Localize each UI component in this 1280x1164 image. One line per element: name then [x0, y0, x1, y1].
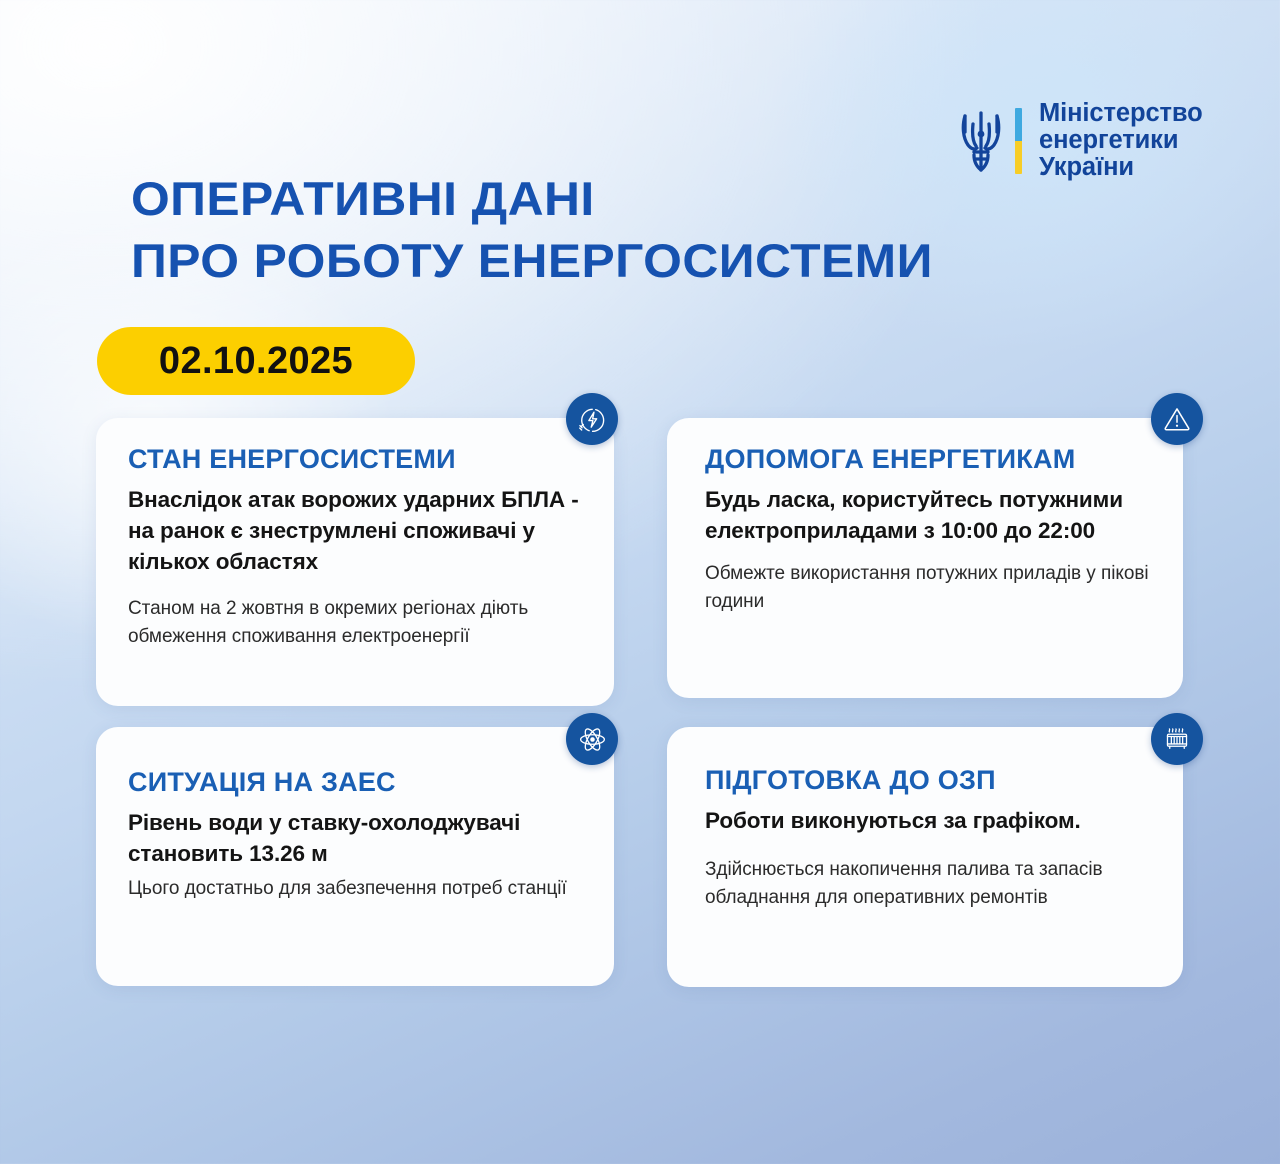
- date-badge: 02.10.2025: [97, 327, 415, 395]
- page-title: ОПЕРАТИВНІ ДАНІ ПРО РОБОТУ ЕНЕРГОСИСТЕМИ: [131, 168, 933, 292]
- card-heading: СТАН ЕНЕРГОСИСТЕМИ: [128, 444, 593, 474]
- card-lead-text: Внаслідок атак ворожих ударних БПЛА - на…: [128, 484, 584, 577]
- card-lead-text: Будь ласка, користуйтесь потужними елект…: [705, 484, 1159, 546]
- card-lead-text: Рівень води у ставку-охолоджувачі станов…: [128, 807, 590, 869]
- ukraine-trident-icon: [955, 104, 1007, 178]
- warning-triangle-icon: [1151, 393, 1203, 445]
- card-lead-text: Роботи виконуються за графіком.: [705, 805, 1159, 836]
- ministry-logo: Міністерство енергетики України: [955, 100, 1203, 181]
- card-note-text: Обмежте використання потужних приладів у…: [705, 560, 1159, 616]
- page-title-line-1: ОПЕРАТИВНІ ДАНІ: [131, 168, 933, 230]
- card-winter-preparation: ПІДГОТОВКА ДО ОЗП Роботи виконуються за …: [667, 727, 1183, 987]
- card-heading: ПІДГОТОВКА ДО ОЗП: [705, 765, 1168, 795]
- card-energy-system-status: СТАН ЕНЕРГОСИСТЕМИ Внаслідок атак ворожи…: [96, 418, 614, 706]
- electric-plug-bolt-icon: [566, 393, 618, 445]
- card-note-text: Здійснюється накопичення палива та запас…: [705, 856, 1159, 912]
- infographic-poster: Міністерство енергетики України ОПЕРАТИВ…: [0, 0, 1280, 1164]
- card-help-energy-workers: ДОПОМОГА ЕНЕРГЕТИКАМ Будь ласка, користу…: [667, 418, 1183, 698]
- card-note-text: Станом на 2 жовтня в окремих регіонах ді…: [128, 595, 584, 651]
- atom-icon: [566, 713, 618, 765]
- card-zaes-situation: СИТУАЦІЯ НА ЗАЕС Рівень води у ставку-ох…: [96, 727, 614, 986]
- ministry-name: Міністерство енергетики України: [1039, 100, 1203, 181]
- ministry-name-line-1: Міністерство: [1039, 100, 1203, 127]
- date-badge-label: 02.10.2025: [159, 340, 353, 383]
- radiator-heating-icon: [1151, 713, 1203, 765]
- card-note-text: Цього достатньо для забезпечення потреб …: [128, 875, 590, 903]
- ministry-name-line-3: України: [1039, 154, 1203, 181]
- flag-divider-bar: [1015, 108, 1022, 174]
- page-title-line-2: ПРО РОБОТУ ЕНЕРГОСИСТЕМИ: [131, 230, 933, 292]
- card-heading: СИТУАЦІЯ НА ЗАЕС: [128, 767, 599, 797]
- card-heading: ДОПОМОГА ЕНЕРГЕТИКАМ: [705, 444, 1168, 474]
- ministry-name-line-2: енергетики: [1039, 127, 1203, 154]
